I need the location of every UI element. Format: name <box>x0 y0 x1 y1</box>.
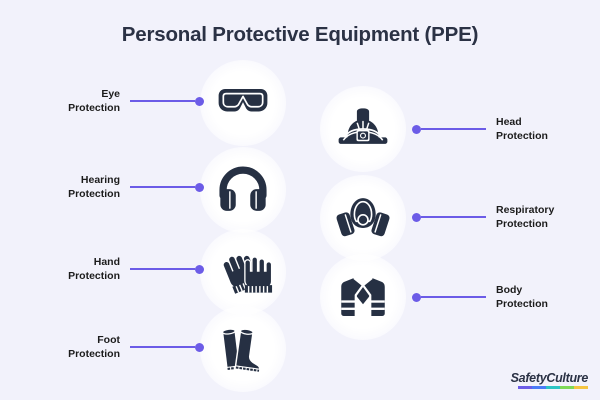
connector-line <box>130 268 195 270</box>
logo-bar-segment-2 <box>532 386 546 389</box>
connector-line <box>421 296 486 298</box>
leader-line-eye-protection <box>130 96 204 106</box>
safety-goggles-icon <box>200 60 286 146</box>
work-gloves-icon <box>200 229 286 315</box>
label-foot-protection: Foot Protection <box>34 333 120 362</box>
connector-dot <box>195 183 204 192</box>
callout-hearing-protection: Hearing Protection <box>34 170 204 204</box>
safety-vest-icon <box>320 254 406 340</box>
callout-eye-protection: Eye Protection <box>34 84 204 118</box>
label-hand-protection: Hand Protection <box>34 255 120 284</box>
connector-dot <box>412 125 421 134</box>
logo-color-bar <box>518 386 588 389</box>
logo-bar-segment-3 <box>546 386 560 389</box>
connector-line <box>130 100 195 102</box>
callout-foot-protection: Foot Protection <box>34 330 204 364</box>
connector-line <box>421 216 486 218</box>
safety-boots-icon <box>200 306 286 392</box>
connector-dot <box>195 343 204 352</box>
connector-line <box>130 186 195 188</box>
leader-line-hearing-protection <box>130 182 204 192</box>
respirator-mask-icon <box>320 175 406 261</box>
connector-dot <box>412 213 421 222</box>
callout-respiratory-protection: Respiratory Protection <box>412 200 588 234</box>
callout-head-protection: Head Protection <box>412 112 588 146</box>
leader-line-body-protection <box>412 292 486 302</box>
page-title: Personal Protective Equipment (PPE) <box>0 23 600 47</box>
connector-dot <box>195 265 204 274</box>
ppe-infographic: Personal Protective Equipment (PPE) <box>0 0 600 400</box>
ear-defenders-icon <box>200 147 286 233</box>
connector-dot <box>412 293 421 302</box>
logo-bar-segment-4 <box>560 386 574 389</box>
leader-line-hand-protection <box>130 264 204 274</box>
logo-bar-segment-1 <box>518 386 532 389</box>
connector-line <box>130 346 195 348</box>
leader-line-respiratory-protection <box>412 212 486 222</box>
connector-dot <box>195 97 204 106</box>
hard-hat-icon <box>320 86 406 172</box>
logo-text: SafetyCulture <box>492 371 588 385</box>
label-body-protection: Body Protection <box>496 283 588 312</box>
callout-body-protection: Body Protection <box>412 280 588 314</box>
label-eye-protection: Eye Protection <box>34 87 120 116</box>
callout-hand-protection: Hand Protection <box>34 252 204 286</box>
label-head-protection: Head Protection <box>496 115 588 144</box>
label-respiratory-protection: Respiratory Protection <box>496 203 588 232</box>
leader-line-foot-protection <box>130 342 204 352</box>
connector-line <box>421 128 486 130</box>
logo-bar-segment-5 <box>574 386 588 389</box>
safetyculture-logo: SafetyCulture <box>492 371 588 389</box>
label-hearing-protection: Hearing Protection <box>34 173 120 202</box>
leader-line-head-protection <box>412 124 486 134</box>
